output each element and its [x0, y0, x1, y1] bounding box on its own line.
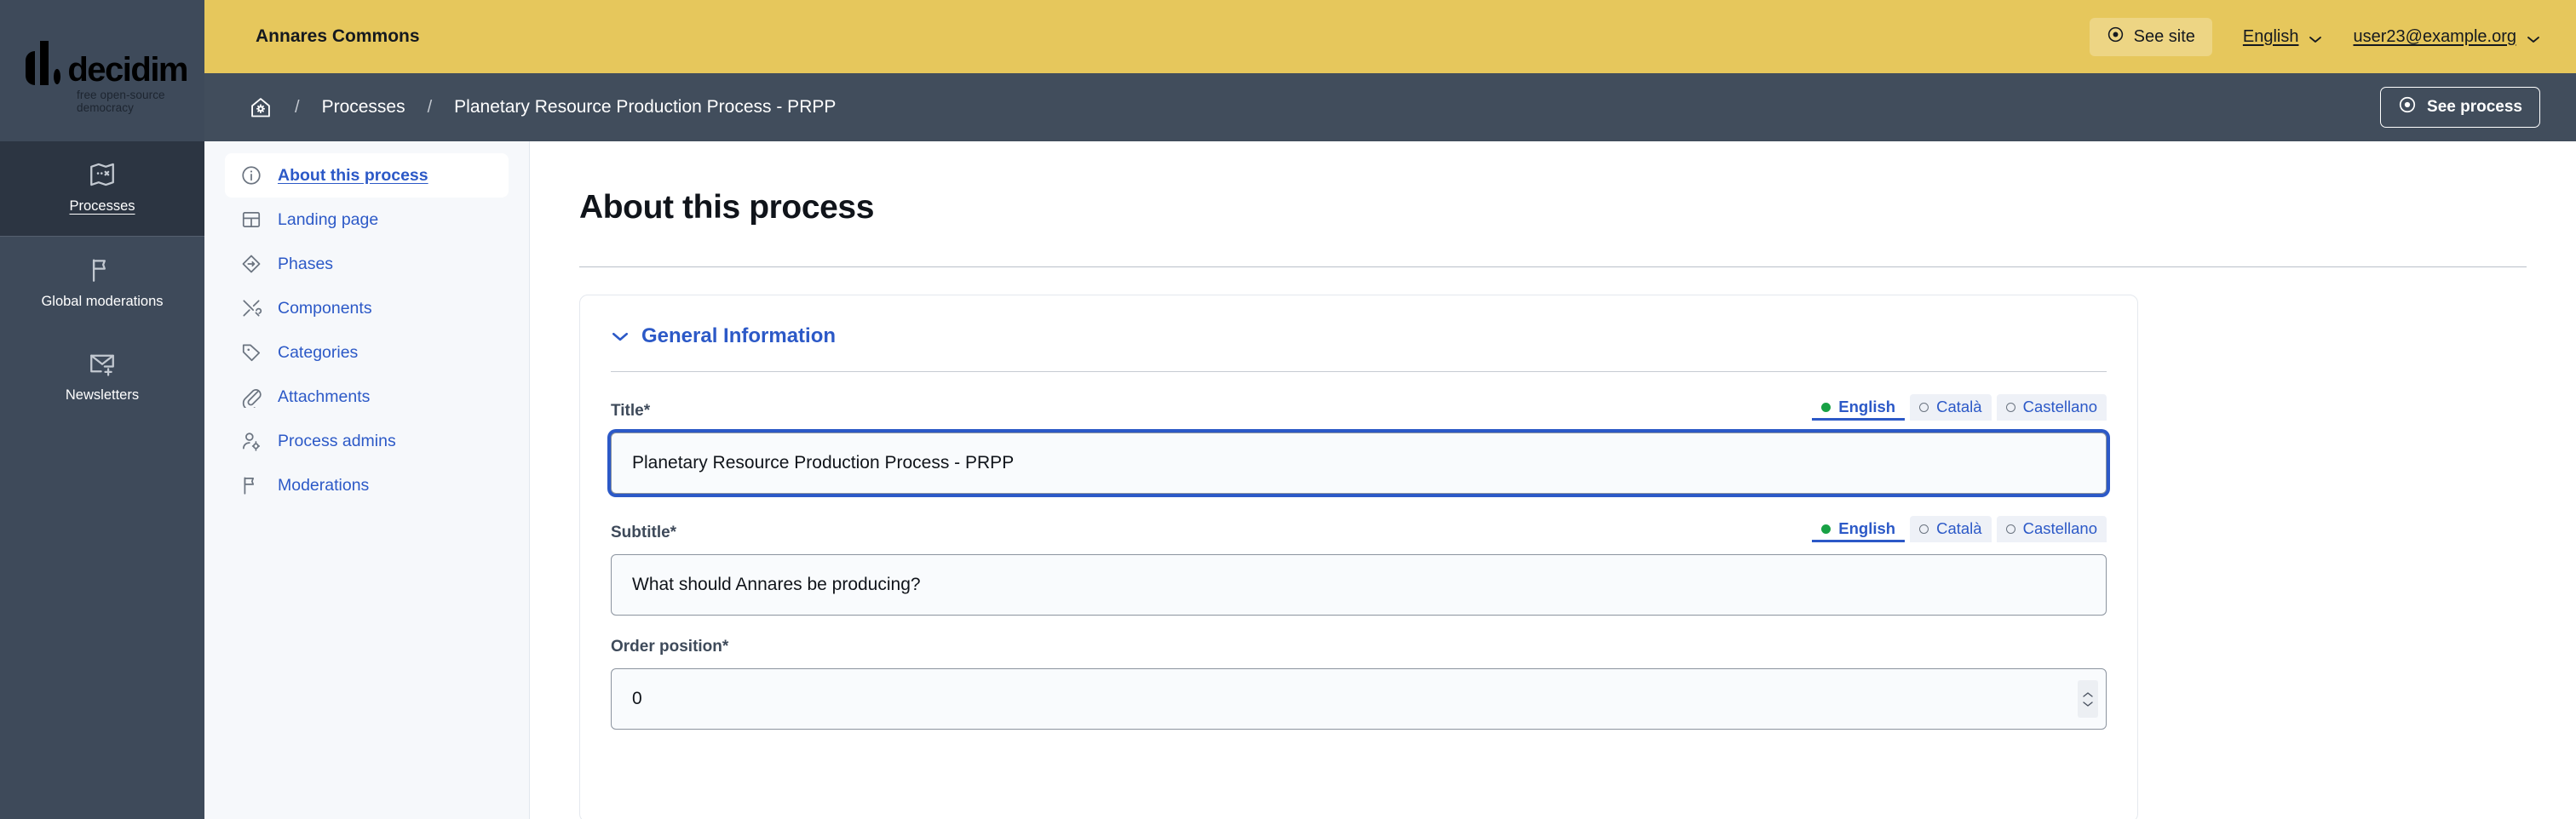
lang-tab-castellano[interactable]: Castellano: [1997, 394, 2107, 421]
field-order-position-header: Order position*: [611, 638, 2107, 656]
title-input[interactable]: [611, 432, 2107, 494]
see-site-label: See site: [2134, 27, 2195, 47]
lang-tab-english[interactable]: English: [1812, 394, 1905, 421]
eye-icon: [2107, 26, 2125, 49]
field-order-position-label: Order position*: [611, 638, 728, 656]
subtitle-language-tabs: English Català Castellano: [1812, 516, 2107, 542]
sidebar-item-categories[interactable]: Categories: [225, 330, 509, 375]
title-language-tabs: English Català Castellano: [1812, 394, 2107, 421]
chevron-up-icon[interactable]: [2082, 691, 2094, 698]
language-selector[interactable]: English: [2243, 27, 2323, 47]
diamond-arrow-icon: [240, 253, 262, 275]
rail-item-label: Processes: [69, 199, 135, 214]
title-divider: [579, 266, 2527, 267]
user-gear-icon: [240, 430, 262, 452]
organization-title: Annares Commons: [256, 26, 420, 47]
logo-bar-left: [26, 51, 35, 85]
lang-status-dot: [1919, 403, 1929, 412]
subtitle-input[interactable]: [611, 554, 2107, 616]
lang-tab-label: Castellano: [2023, 398, 2097, 416]
field-title: Title* English Català Castellano: [611, 394, 2107, 494]
rail-item-label: Newsletters: [66, 388, 139, 403]
top-bar: Annares Commons See site English user23@…: [204, 0, 2576, 73]
tools-icon: [240, 297, 262, 319]
general-information-header[interactable]: General Information: [611, 324, 2107, 348]
see-site-button[interactable]: See site: [2090, 18, 2212, 56]
quantity-stepper[interactable]: [2078, 680, 2098, 718]
eye-icon: [2398, 95, 2417, 119]
lang-tab-catala[interactable]: Català: [1910, 516, 1991, 542]
layout-grid-icon: [240, 209, 262, 231]
lang-status-dot: [2006, 524, 2015, 534]
decidim-logo[interactable]: decidim free open-source democracy: [26, 41, 187, 94]
lang-status-dot: [2006, 403, 2015, 412]
field-subtitle-label: Subtitle*: [611, 524, 676, 542]
sidebar-item-process-admins[interactable]: Process admins: [225, 419, 509, 463]
flag-icon: [88, 255, 117, 284]
secondary-nav: About this process Landing page Phases C…: [204, 141, 530, 819]
sidebar-item-moderations[interactable]: Moderations: [225, 463, 509, 507]
sidebar-item-label: Moderations: [278, 476, 369, 495]
tag-icon: [240, 341, 262, 364]
sidebar-item-label: About this process: [278, 166, 428, 186]
user-email-label: user23@example.org: [2353, 27, 2516, 47]
breadcrumb-item-processes[interactable]: Processes: [322, 97, 405, 117]
lang-status-dot: [1919, 524, 1929, 534]
sidebar-item-label: Categories: [278, 343, 358, 363]
sidebar-item-label: Components: [278, 299, 372, 318]
breadcrumb-separator: /: [295, 98, 300, 117]
left-rail: decidim free open-source democracy Proce…: [0, 0, 204, 819]
sidebar-item-about-this-process[interactable]: About this process: [225, 153, 509, 198]
lang-tab-label: Català: [1936, 519, 1981, 538]
info-circle-icon: [240, 164, 262, 186]
lang-tab-label: English: [1838, 398, 1895, 416]
field-title-label: Title*: [611, 402, 650, 421]
lang-status-dot: [1821, 403, 1831, 412]
lang-status-dot: [1821, 524, 1831, 534]
rail-item-newsletters[interactable]: Newsletters: [0, 330, 204, 425]
sidebar-item-label: Landing page: [278, 210, 378, 230]
general-information-card: General Information Title* English Catal…: [579, 295, 2138, 819]
field-order-position: Order position*: [611, 638, 2107, 730]
sidebar-item-label: Attachments: [278, 387, 370, 407]
field-subtitle-header: Subtitle* English Català Castellano: [611, 516, 2107, 542]
see-process-label: See process: [2427, 98, 2522, 117]
rail-nav: Processes Global moderations Newsletters: [0, 141, 204, 425]
page-title: About this process: [579, 189, 2527, 226]
sidebar-item-phases[interactable]: Phases: [225, 242, 509, 286]
sidebar-item-attachments[interactable]: Attachments: [225, 375, 509, 419]
home-gear-icon[interactable]: [249, 95, 273, 119]
logo-mark: decidim: [26, 41, 187, 85]
main-content: About this process General Information T…: [530, 141, 2576, 819]
order-position-input[interactable]: [611, 668, 2107, 730]
language-label: English: [2243, 27, 2299, 47]
sidebar-item-label: Process admins: [278, 432, 396, 451]
logo-bar-right: [40, 41, 48, 85]
sidebar-item-landing-page[interactable]: Landing page: [225, 198, 509, 242]
sidebar-item-label: Phases: [278, 255, 333, 274]
map-icon: [88, 160, 117, 189]
general-information-title: General Information: [641, 324, 836, 348]
flag-icon: [240, 474, 262, 496]
chevron-down-icon: [2309, 32, 2322, 41]
breadcrumb-separator: /: [428, 98, 433, 117]
section-divider: [611, 371, 2107, 372]
logo-tagline: free open-source democracy: [77, 89, 187, 114]
rail-item-global-moderations[interactable]: Global moderations: [0, 237, 204, 331]
lang-tab-label: Castellano: [2023, 519, 2097, 538]
lang-tab-english[interactable]: English: [1812, 516, 1905, 542]
user-menu[interactable]: user23@example.org: [2353, 27, 2540, 47]
breadcrumb: / Processes / Planetary Resource Product…: [204, 73, 2576, 141]
rail-item-processes[interactable]: Processes: [0, 141, 204, 236]
breadcrumb-current: Planetary Resource Production Process - …: [454, 97, 836, 117]
envelope-plus-icon: [88, 349, 117, 378]
field-title-header: Title* English Català Castellano: [611, 394, 2107, 421]
chevron-down-icon: [611, 330, 630, 342]
field-subtitle: Subtitle* English Català Castellano: [611, 516, 2107, 616]
see-process-button[interactable]: See process: [2380, 87, 2540, 128]
chevron-down-icon[interactable]: [2082, 701, 2094, 707]
lang-tab-castellano[interactable]: Castellano: [1997, 516, 2107, 542]
sidebar-item-components[interactable]: Components: [225, 286, 509, 330]
logo-dot: [54, 69, 61, 84]
chevron-down-icon: [2527, 32, 2540, 41]
logo-wordmark: decidim: [67, 54, 187, 85]
paperclip-icon: [240, 386, 262, 408]
top-bar-actions: See site English user23@example.org: [2090, 18, 2576, 56]
order-position-wrapper: [611, 668, 2107, 730]
lang-tab-catala[interactable]: Català: [1910, 394, 1991, 421]
lang-tab-label: Català: [1936, 398, 1981, 416]
lang-tab-label: English: [1838, 519, 1895, 538]
rail-item-label: Global moderations: [41, 295, 163, 309]
